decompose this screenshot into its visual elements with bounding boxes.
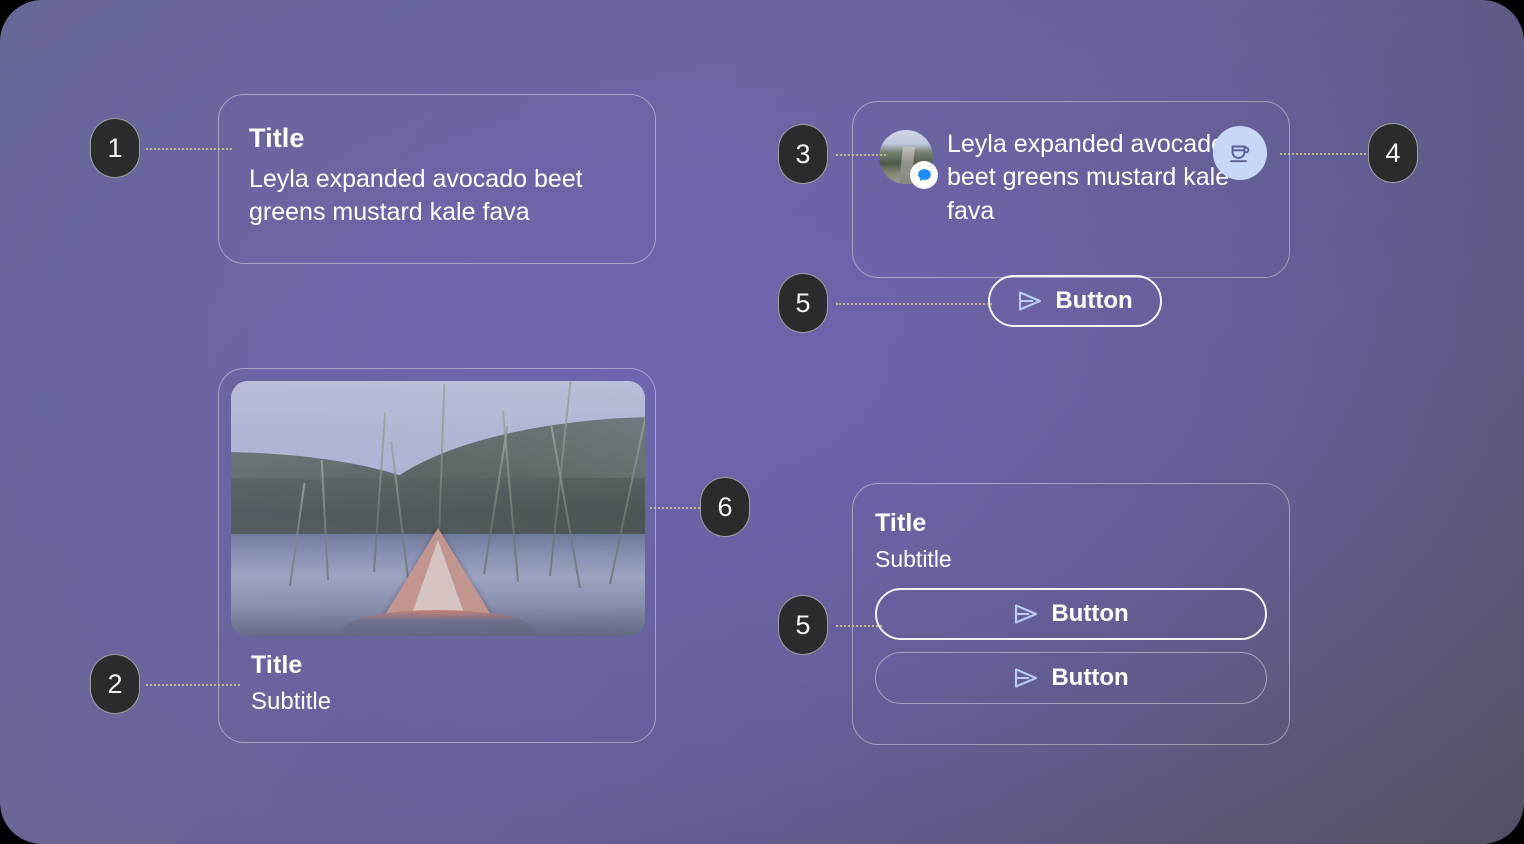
connector-5a [836, 303, 992, 305]
annotation-badge-5-avatar[interactable]: 5 [778, 273, 828, 333]
avatar-card-button-label: Button [1055, 287, 1132, 315]
list-card-first-button[interactable]: Button [875, 588, 1267, 640]
connector-4 [1280, 153, 1366, 155]
connector-2 [146, 684, 240, 686]
photo-color-overlay [231, 381, 645, 636]
text-card[interactable]: Title Leyla expanded avocado beet greens… [218, 94, 656, 264]
chat-bubble-icon [910, 161, 938, 189]
annotation-badge-6[interactable]: 6 [700, 477, 750, 537]
annotation-badge-3[interactable]: 3 [778, 124, 828, 184]
avatar-card-button[interactable]: Button [988, 275, 1162, 327]
annotation-badge-4[interactable]: 4 [1368, 123, 1418, 183]
text-card-title: Title [249, 125, 625, 152]
avatar[interactable] [879, 130, 933, 184]
list-card-second-button[interactable]: Button [875, 652, 1267, 704]
annotation-badge-2[interactable]: 2 [90, 654, 140, 714]
avatar-card[interactable]: Leyla expanded avocado beet greens musta… [852, 101, 1290, 278]
media-card-image[interactable] [231, 381, 645, 636]
media-card-title: Title [251, 652, 623, 678]
connector-3 [836, 154, 886, 156]
specimen-canvas: Title Leyla expanded avocado beet greens… [0, 0, 1524, 844]
connector-1 [146, 148, 232, 150]
list-card-second-button-label: Button [1051, 664, 1128, 692]
text-card-body: Leyla expanded avocado beet greens musta… [249, 163, 625, 229]
list-card-subtitle: Subtitle [875, 546, 1267, 573]
annotation-badge-1[interactable]: 1 [90, 118, 140, 178]
media-card[interactable]: Title Subtitle [218, 368, 656, 743]
media-card-subtitle: Subtitle [251, 688, 623, 716]
list-card-title: Title [875, 510, 1267, 536]
list-card-first-button-label: Button [1051, 600, 1128, 628]
annotation-badge-5-list[interactable]: 5 [778, 595, 828, 655]
coffee-cup-icon[interactable] [1213, 126, 1267, 180]
list-card[interactable]: Title Subtitle Button Button [852, 483, 1290, 745]
connector-5b [836, 625, 882, 627]
